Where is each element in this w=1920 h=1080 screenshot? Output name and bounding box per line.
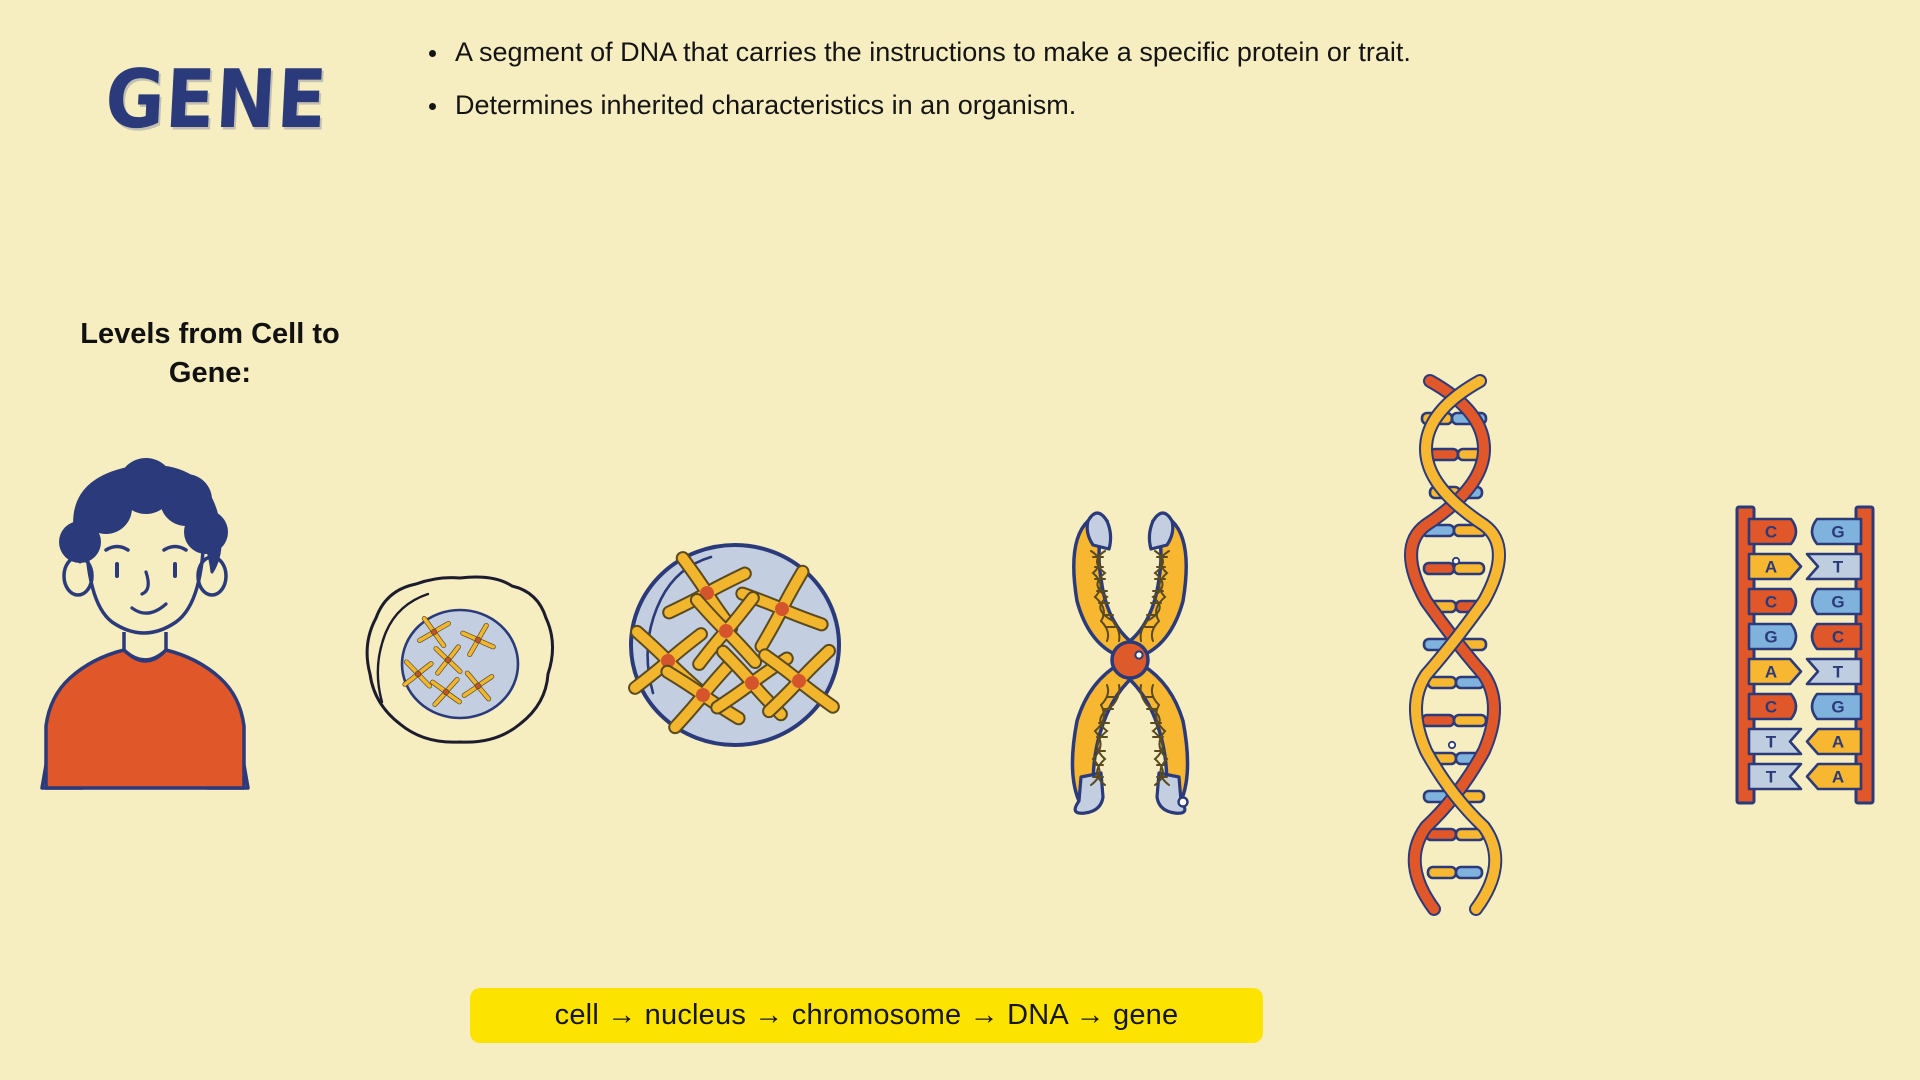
dna-backbone-left [1737, 507, 1754, 803]
dna-backbone-right [1856, 507, 1873, 803]
base-pair-rung: GC [1749, 624, 1861, 649]
cell-illustration [360, 570, 560, 750]
base-letter: G [1831, 698, 1844, 717]
base-letter: T [1766, 733, 1777, 752]
telomere [1087, 513, 1110, 549]
base-letter: G [1764, 628, 1777, 647]
base-pair-rung: CG [1749, 519, 1861, 544]
section-heading: Levels from Cell to Gene: [40, 315, 380, 393]
base-letter: A [1832, 768, 1844, 787]
base-pair-rung: TA [1749, 729, 1861, 754]
definition-bullet-list: A segment of DNA that carries the instru… [425, 26, 1435, 131]
person-illustration [20, 450, 280, 790]
person-mouth [132, 604, 166, 613]
list-item: Determines inherited characteristics in … [425, 79, 1435, 132]
base-letter: T [1833, 558, 1844, 577]
base-pair-rung: CG [1749, 589, 1861, 614]
nucleus-illustration [625, 535, 845, 755]
helix-dot [1449, 742, 1455, 748]
person-eyebrow [164, 547, 186, 551]
page-title: GENE [103, 52, 330, 146]
chromosome-illustration [1055, 505, 1205, 815]
base-pair-rung: AT [1749, 659, 1861, 684]
base-letter: A [1765, 558, 1777, 577]
dna-ladder-svg: CGATCGGCATCGTATA [1735, 505, 1875, 805]
centromere-dot [1135, 651, 1142, 658]
base-letter: C [1765, 593, 1777, 612]
base-pair-rung: TA [1749, 764, 1861, 789]
base-letter: C [1765, 523, 1777, 542]
hair-curl [184, 510, 228, 554]
base-letter: G [1831, 523, 1844, 542]
list-item: A segment of DNA that carries the instru… [425, 26, 1435, 79]
slide-canvas: GENE A segment of DNA that carries the i… [0, 0, 1920, 1080]
base-letter: G [1831, 593, 1844, 612]
base-letter: C [1765, 698, 1777, 717]
telomere [1149, 513, 1172, 549]
dna-helix-illustration [1400, 375, 1510, 915]
centromere [1112, 642, 1148, 678]
base-letter: T [1833, 663, 1844, 682]
base-letter: C [1832, 628, 1844, 647]
person-shirt [46, 650, 244, 788]
person-nose [142, 572, 148, 594]
level-flow-badge: cell → nucleus → chromosome → DNA → gene [470, 988, 1263, 1043]
base-pair-rung: CG [1749, 694, 1861, 719]
base-letter: A [1832, 733, 1844, 752]
helix-dot [1453, 558, 1459, 564]
telomere-dot [1179, 798, 1188, 807]
base-pair-rung: AT [1749, 554, 1861, 579]
person-eyebrow [106, 547, 128, 551]
dna-ladder-illustration: CGATCGGCATCGTATA [1735, 505, 1875, 805]
base-letter: A [1765, 663, 1777, 682]
base-letter: T [1766, 768, 1777, 787]
